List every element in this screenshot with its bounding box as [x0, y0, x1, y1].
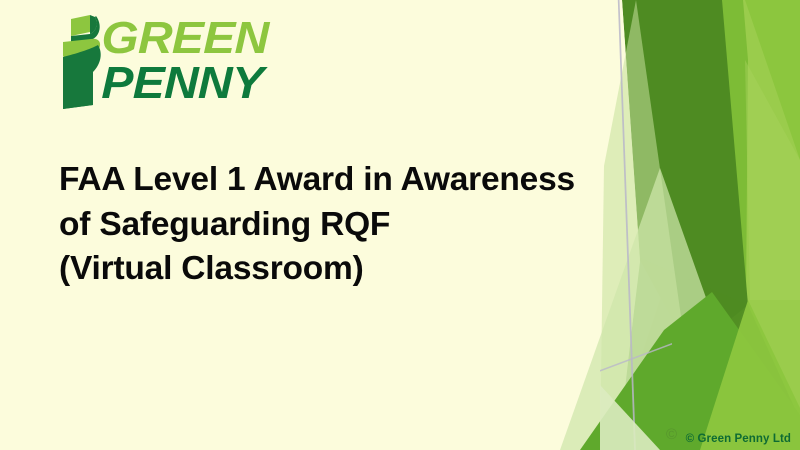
presentation-slide: GREEN PENNY FAA Level 1 Award in Awarene… — [0, 0, 800, 450]
green-penny-spiral-mark-icon — [57, 12, 105, 110]
title-line-2: of Safeguarding RQF — [59, 203, 659, 248]
mark-top-light-shape — [71, 15, 90, 36]
logo-wordmark: GREEN PENNY — [102, 8, 307, 113]
title-line-3: (Virtual Classroom) — [59, 247, 659, 292]
title-line-1: FAA Level 1 Award in Awareness — [59, 158, 659, 203]
slide-title: FAA Level 1 Award in Awareness of Safegu… — [59, 158, 659, 292]
copyright-watermark-icon: © — [666, 427, 677, 442]
logo-text-penny: PENNY — [101, 60, 264, 105]
logo-text-green: GREEN — [101, 15, 269, 60]
copyright-notice: © Green Penny Ltd — [686, 433, 791, 445]
green-penny-logo: GREEN PENNY — [57, 8, 307, 113]
mark-body-dark-fill — [63, 50, 93, 109]
